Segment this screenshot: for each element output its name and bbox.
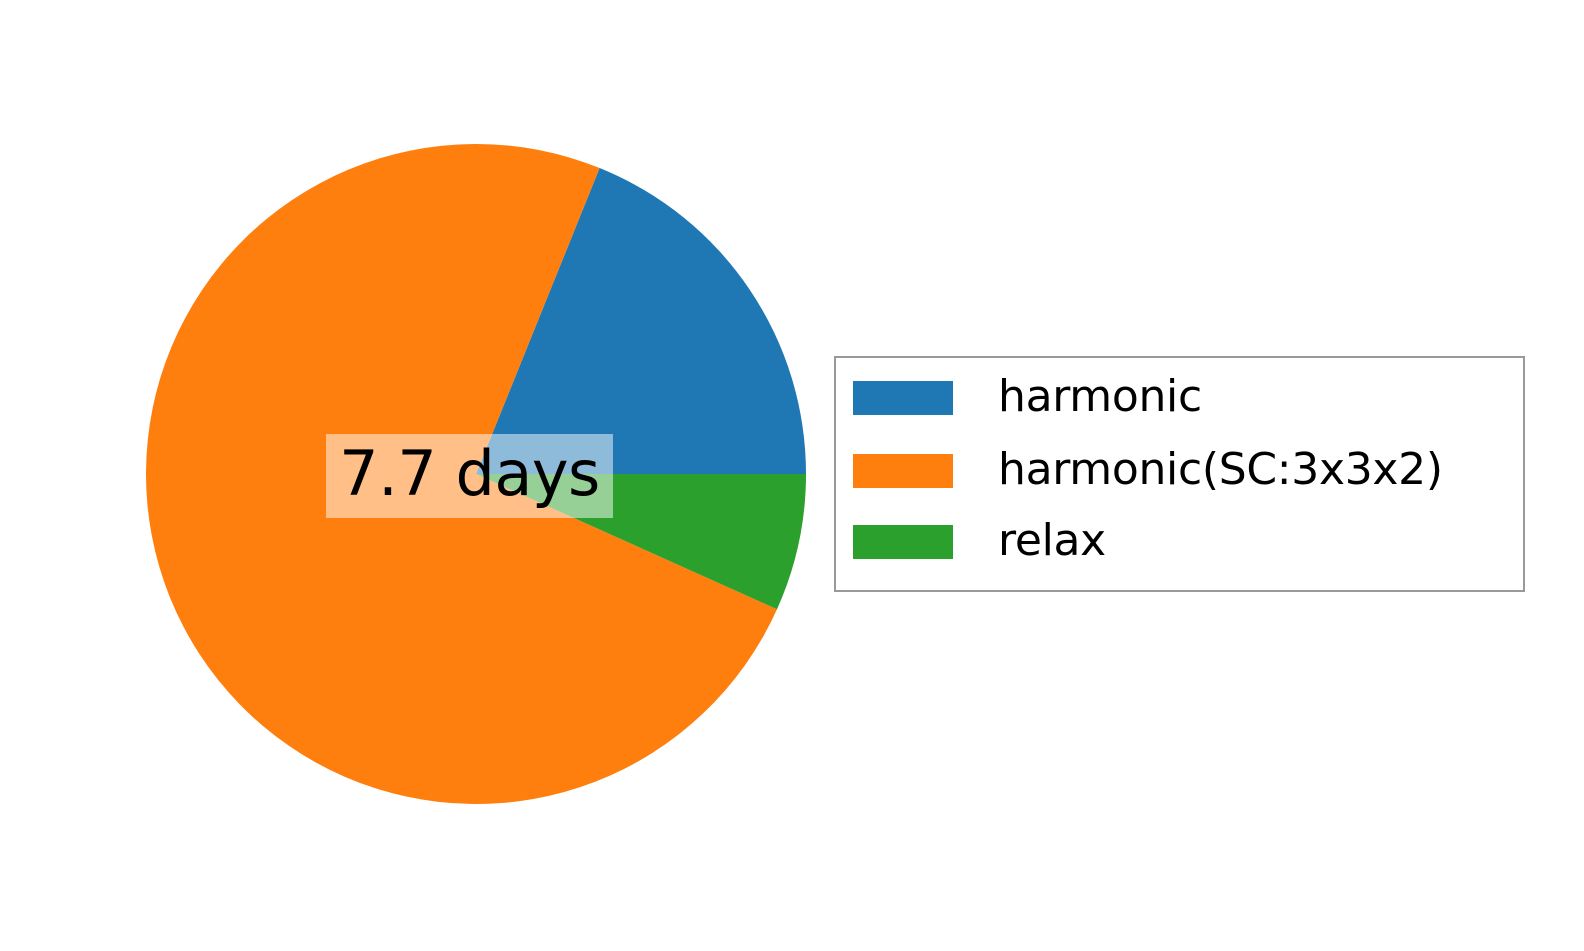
- legend-item-relax[interactable]: relax: [853, 525, 1106, 559]
- center-total-label: 7.7 days: [326, 434, 613, 518]
- legend-swatch-harmonic-sc-3x3x2: [853, 454, 953, 488]
- legend-label-harmonic-sc-3x3x2: harmonic(SC:3x3x2): [998, 448, 1443, 492]
- legend-item-harmonic[interactable]: harmonic: [853, 381, 1202, 415]
- legend-swatch-harmonic: [853, 381, 953, 415]
- center-total-text: 7.7 days: [339, 443, 600, 505]
- legend-label-relax: relax: [998, 519, 1106, 563]
- legend-label-harmonic: harmonic: [998, 375, 1202, 419]
- pie-chart-figure: 7.7 days harmonic harmonic(SC:3x3x2) rel…: [0, 0, 1584, 951]
- legend: harmonic harmonic(SC:3x3x2) relax: [834, 356, 1525, 592]
- legend-item-harmonic-sc-3x3x2[interactable]: harmonic(SC:3x3x2): [853, 454, 1443, 488]
- legend-swatch-relax: [853, 525, 953, 559]
